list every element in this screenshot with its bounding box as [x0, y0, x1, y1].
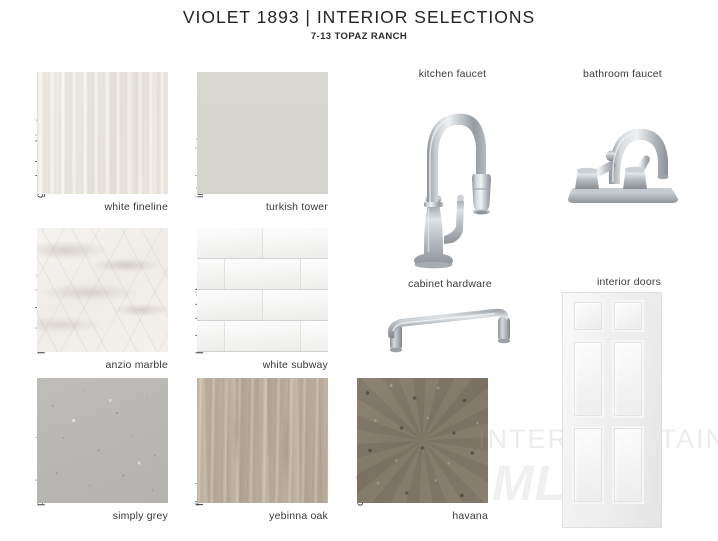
material-card-interior-paint[interactable]: interior paint turkish tower [176, 64, 336, 216]
interior-selections-board: VIOLET 1893 | INTERIOR SELECTIONS 7-13 T… [0, 0, 718, 541]
material-selection-label: turkish tower [176, 201, 328, 213]
bathroom-faucet-icon[interactable] [547, 86, 699, 206]
cabinet-pull-icon[interactable] [374, 304, 526, 360]
tile [263, 290, 328, 321]
material-swatch-white-fineline[interactable] [37, 72, 168, 194]
tile-row [197, 290, 328, 321]
tile [197, 228, 263, 259]
material-swatch-anzio-marble[interactable] [37, 228, 168, 352]
product-card-bathroom-faucet[interactable]: bathroom faucet [535, 68, 710, 208]
door-panel-bottom-left [574, 428, 602, 502]
tile [197, 259, 225, 290]
door-panel-mid-left [574, 342, 602, 416]
product-label: bathroom faucet [535, 68, 710, 80]
six-panel-door-icon[interactable] [562, 292, 662, 528]
tile-row [197, 228, 328, 259]
material-swatch-turkish-tower[interactable] [197, 72, 328, 194]
board-header: VIOLET 1893 | INTERIOR SELECTIONS 7-13 T… [0, 6, 718, 43]
product-card-kitchen-faucet[interactable]: kitchen faucet [370, 68, 535, 268]
product-card-interior-doors[interactable]: interior doors [540, 276, 718, 534]
tile [225, 321, 301, 352]
product-card-cabinet-hardware[interactable]: cabinet hardware [360, 278, 540, 368]
tile [225, 259, 301, 290]
tile-row [197, 321, 328, 352]
material-swatch-simply-grey[interactable] [37, 378, 168, 503]
material-selection-label: white fineline [16, 201, 168, 213]
product-label: interior doors [540, 276, 718, 288]
material-card-carpet[interactable]: carpet havana [336, 370, 496, 525]
material-selection-label: simply grey [16, 510, 168, 522]
product-label: kitchen faucet [370, 68, 535, 80]
material-selection-label: havana [336, 510, 488, 522]
material-card-backsplash-tile[interactable]: backsplash tile white [176, 220, 336, 372]
product-label: cabinet hardware [360, 278, 540, 290]
door-panel-top-right [614, 302, 642, 330]
material-swatch-yebinna-oak[interactable] [197, 378, 328, 503]
tile-row [197, 259, 328, 290]
door-panel-top-left [574, 302, 602, 330]
door-panel-mid-right [614, 342, 642, 416]
material-card-premium-laminate[interactable]: premium laminate anzio marble [16, 220, 176, 372]
material-swatch-havana[interactable] [357, 378, 488, 503]
tile [301, 321, 328, 352]
material-card-greyloch-cabinet[interactable]: greyloch cabinet white fineline [16, 64, 176, 216]
material-card-flooring[interactable]: flooring yebinna oak [176, 370, 336, 525]
tile [197, 321, 225, 352]
tile [197, 290, 263, 321]
page-subtitle: 7-13 TOPAZ RANCH [0, 30, 718, 43]
material-selection-label: yebinna oak [176, 510, 328, 522]
tile [263, 228, 328, 259]
page-title: VIOLET 1893 | INTERIOR SELECTIONS [0, 6, 718, 28]
material-swatch-white-subway[interactable] [197, 228, 328, 352]
door-panel-bottom-right [614, 428, 642, 502]
kitchen-faucet-icon[interactable] [394, 84, 514, 270]
material-card-premium-quartz[interactable]: premium quartz simply grey [16, 370, 176, 525]
tile [301, 259, 328, 290]
